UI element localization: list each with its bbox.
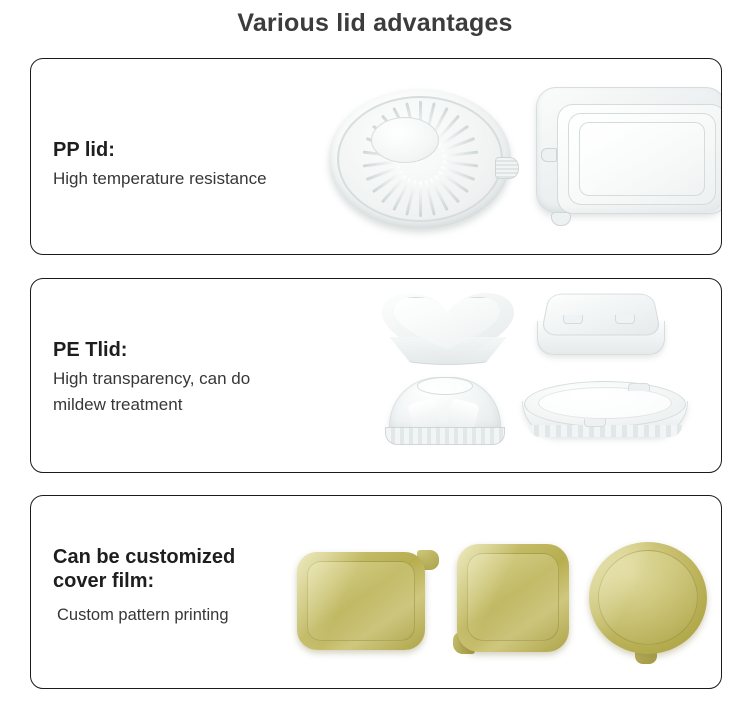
heart-lid-base <box>384 337 512 365</box>
round-lid-rib <box>429 107 448 140</box>
cover-film-text-block: Can be customized cover film: Custom pat… <box>53 546 235 629</box>
round-lid-rib <box>437 125 468 148</box>
oval-pe-lid-image <box>518 379 698 451</box>
gold-circle-inset <box>598 550 698 645</box>
gold-rect-inset <box>307 561 415 641</box>
round-lid-rib <box>419 101 422 137</box>
round-lid-rib <box>433 115 459 144</box>
oval-lid-notch-bottom <box>584 419 606 427</box>
round-lid-rib <box>380 174 406 203</box>
round-lid-rib <box>365 165 400 181</box>
oval-lid-inner <box>538 387 672 419</box>
gold-square-cover-film-image <box>441 540 581 664</box>
round-lid-center <box>371 117 439 163</box>
gold-circle-sheen <box>589 542 707 654</box>
round-lid-rib <box>380 115 406 144</box>
oval-lid-side <box>522 401 688 437</box>
round-lid-rib <box>405 180 417 216</box>
round-lid-rib <box>371 170 402 193</box>
gold-circle-body <box>589 542 707 654</box>
round-lid-rib <box>437 170 468 193</box>
cover-film-subtitle: Custom pattern printing <box>57 603 235 629</box>
pe-lid-subtitle: High transparency, can do mildew treatme… <box>53 366 250 419</box>
dome-lid-rim <box>385 427 505 445</box>
round-lid-rib <box>429 178 448 211</box>
oval-lid-rim <box>528 425 682 437</box>
round-lid-rib <box>371 125 402 148</box>
gold-square-tab <box>453 632 475 654</box>
round-lid-rib <box>433 174 459 203</box>
lid-advantages-page: Various lid advantages PP lid: High temp… <box>0 0 750 713</box>
round-pp-lid-image <box>321 71 521 246</box>
dome-pe-lid-image <box>383 375 513 453</box>
square-lid-side <box>537 321 665 355</box>
rect-lid-body <box>536 87 722 213</box>
round-lid-rib <box>440 165 475 181</box>
rect-lid-bottom-tab <box>551 212 571 226</box>
pe-lid-heading: PE Tlid: <box>53 339 250 363</box>
gold-rect-tab <box>417 550 439 570</box>
pe-lid-text-block: PE Tlid: High transparency, can do milde… <box>53 339 250 418</box>
panel-pp-lid: PP lid: High temperature resistance <box>30 58 722 255</box>
gold-circular-cover-film-image <box>583 538 719 664</box>
square-lid-top <box>540 294 661 336</box>
round-lid-rib <box>362 151 398 158</box>
heart-lid-inner <box>394 297 500 349</box>
rect-lid-side-tab <box>541 148 557 162</box>
heart-lid-body <box>382 293 514 365</box>
rectangular-pp-lid-image <box>526 79 722 239</box>
rect-lid-ridge-outer <box>557 104 722 214</box>
pp-lid-heading: PP lid: <box>53 139 267 163</box>
round-lid-rib <box>392 178 411 211</box>
gold-rect-sheen <box>297 552 425 650</box>
round-lid-rib <box>365 137 400 153</box>
square-lid-notch-right <box>615 315 635 324</box>
gold-circle-tab <box>635 646 657 664</box>
round-lid-rib <box>419 181 422 217</box>
panel-cover-film: Can be customized cover film: Custom pat… <box>30 495 722 689</box>
round-lid-rib <box>392 107 411 140</box>
round-lid-rib <box>442 160 478 167</box>
heart-pe-lid-image <box>376 285 526 377</box>
round-lid-rib <box>405 102 417 138</box>
gold-rect-body <box>297 552 425 650</box>
round-lid-rib <box>442 151 478 158</box>
cover-film-heading: Can be customized cover film: <box>53 546 235 593</box>
oval-lid-top <box>524 381 686 427</box>
dome-lid-facet-right <box>446 398 480 432</box>
dome-lid-facet-left <box>407 398 441 432</box>
round-lid-rib <box>440 137 475 153</box>
rect-lid-ridge-middle <box>568 113 716 205</box>
square-pe-lid-image <box>531 285 681 373</box>
panel-pe-lid: PE Tlid: High transparency, can do milde… <box>30 278 722 473</box>
rect-lid-ridge-inner <box>579 122 705 196</box>
dome-lid-top-ring <box>417 377 473 395</box>
round-lid-rib <box>362 160 398 167</box>
round-lid-rib <box>424 102 436 138</box>
gold-rectangular-cover-film-image <box>293 542 443 657</box>
pp-lid-text-block: PP lid: High temperature resistance <box>53 139 267 192</box>
round-lid-rim <box>337 96 503 222</box>
round-lid-body <box>329 89 511 229</box>
round-lid-tab <box>495 157 519 179</box>
page-title: Various lid advantages <box>0 9 750 38</box>
gold-square-body <box>457 544 569 652</box>
round-lid-rib <box>424 180 436 216</box>
round-lid-ribs <box>337 96 503 222</box>
pp-lid-subtitle: High temperature resistance <box>53 166 267 192</box>
square-lid-notch-left <box>563 315 583 324</box>
dome-lid-cap <box>389 377 501 435</box>
gold-square-sheen <box>457 544 569 652</box>
oval-lid-notch-top <box>628 383 650 391</box>
gold-square-inset <box>467 553 559 641</box>
